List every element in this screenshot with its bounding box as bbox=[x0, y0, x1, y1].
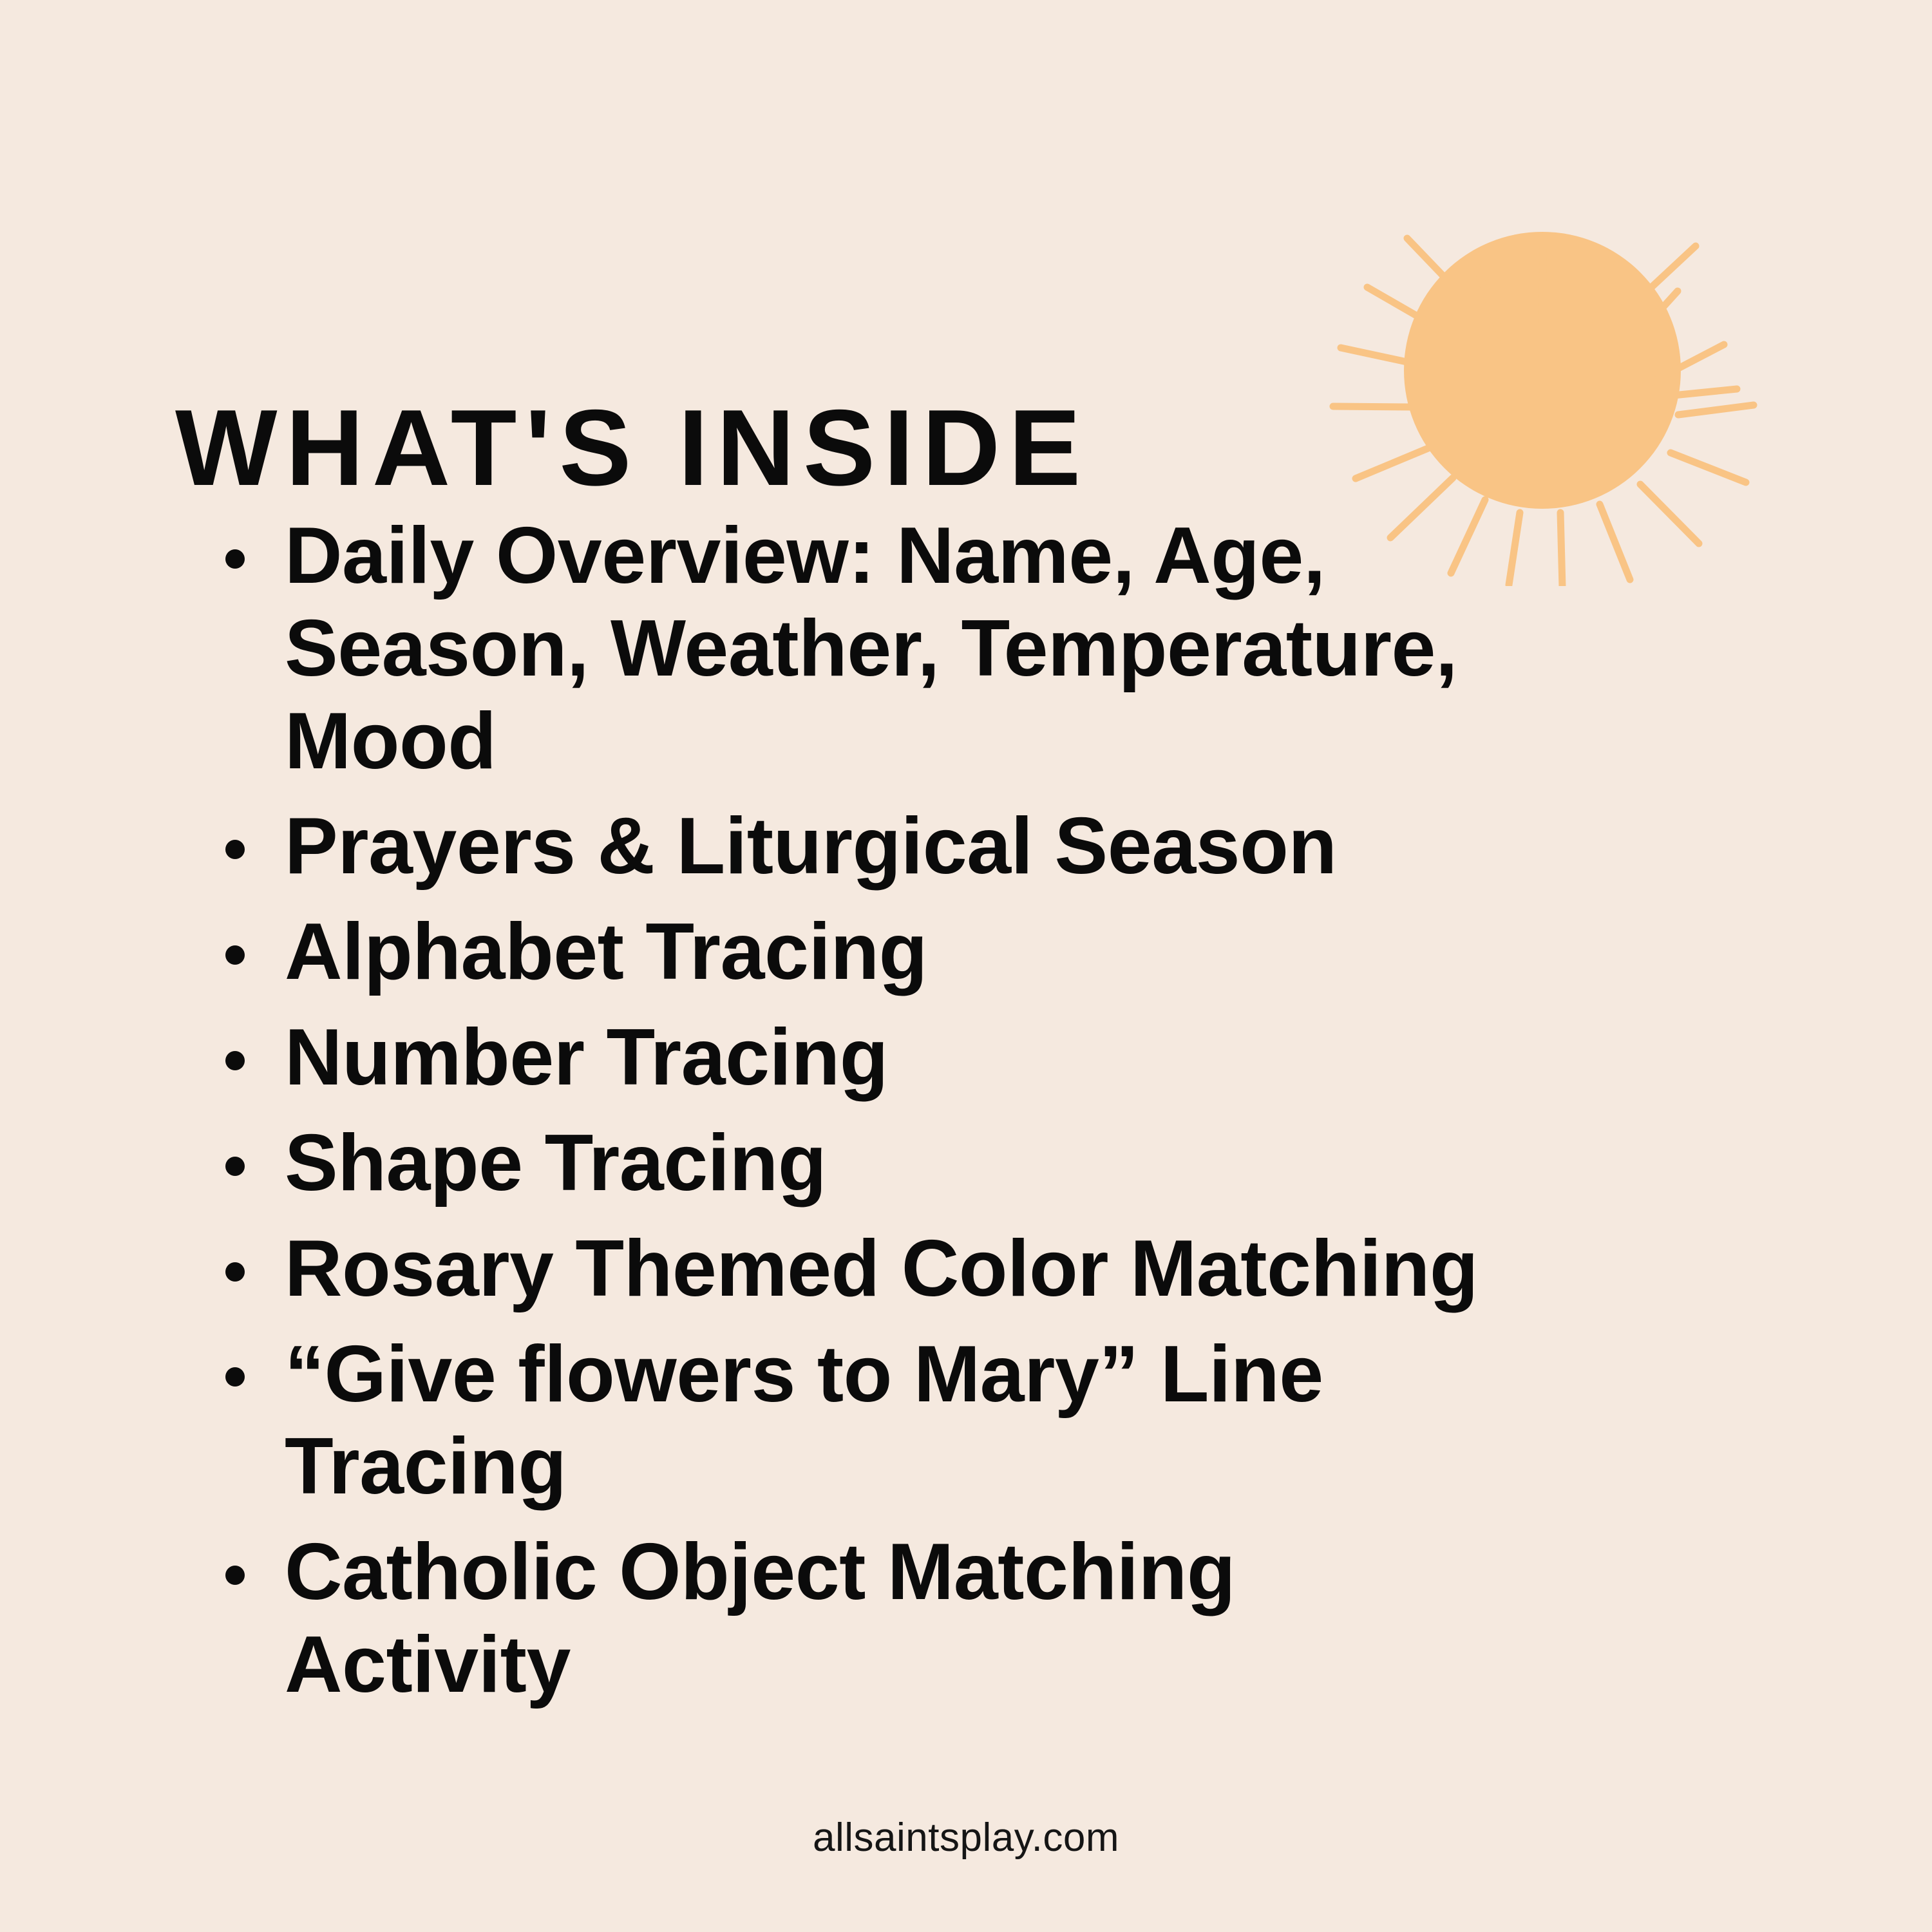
bullet-icon bbox=[225, 549, 245, 569]
list-item-label: Daily Overview: Name, Age, Season, Weath… bbox=[285, 510, 1507, 788]
list-item: “Give flowers to Mary” Line Tracing bbox=[213, 1329, 1507, 1514]
list-item: Number Tracing bbox=[213, 1012, 1507, 1104]
inside-list: Daily Overview: Name, Age, Season, Weath… bbox=[213, 510, 1507, 1725]
site-footer-url: allsaintsplay.com bbox=[0, 1815, 1932, 1861]
list-item-label: “Give flowers to Mary” Line Tracing bbox=[285, 1329, 1507, 1514]
list-item: Daily Overview: Name, Age, Season, Weath… bbox=[213, 510, 1507, 788]
poster-canvas: WHAT'S INSIDE Daily Overview: Name, Age,… bbox=[0, 0, 1932, 1932]
list-item: Catholic Object Matching Activity bbox=[213, 1526, 1507, 1712]
bullet-icon bbox=[225, 1051, 245, 1070]
list-item-label: Prayers & Liturgical Season bbox=[285, 800, 1507, 893]
page-title: WHAT'S INSIDE bbox=[175, 393, 1089, 502]
list-item-label: Rosary Themed Color Matching bbox=[285, 1223, 1507, 1316]
bullet-icon bbox=[225, 945, 245, 965]
list-item: Prayers & Liturgical Season bbox=[213, 800, 1507, 893]
bullet-icon bbox=[225, 840, 245, 859]
bullet-icon bbox=[225, 1262, 245, 1282]
bullet-icon bbox=[225, 1367, 245, 1387]
list-item: Rosary Themed Color Matching bbox=[213, 1223, 1507, 1316]
list-item-label: Shape Tracing bbox=[285, 1117, 1507, 1210]
bullet-icon bbox=[225, 1566, 245, 1585]
list-item: Alphabet Tracing bbox=[213, 906, 1507, 999]
list-item-label: Alphabet Tracing bbox=[285, 906, 1507, 999]
list-item: Shape Tracing bbox=[213, 1117, 1507, 1210]
list-item-label: Number Tracing bbox=[285, 1012, 1507, 1104]
list-item-label: Catholic Object Matching Activity bbox=[285, 1526, 1507, 1712]
bullet-icon bbox=[225, 1157, 245, 1176]
